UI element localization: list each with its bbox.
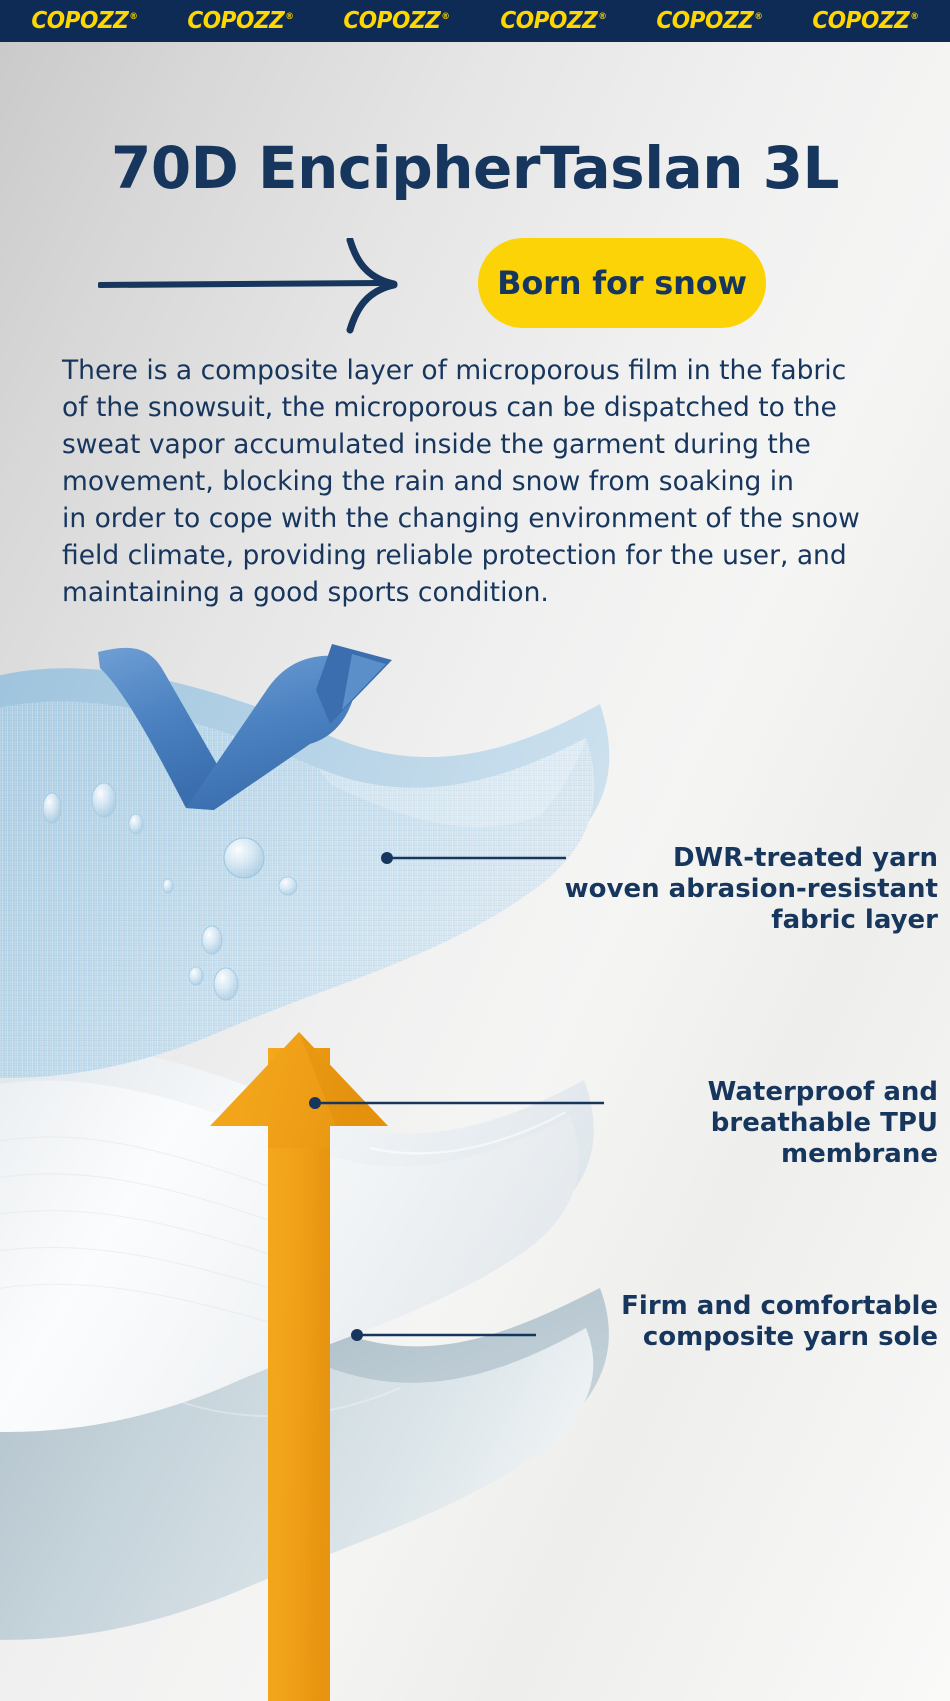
brand-logo: COPOZZ® <box>657 8 763 34</box>
description-line: of the snowsuit, the microporous can be … <box>62 389 862 426</box>
tagline-text: Born for snow <box>497 264 747 302</box>
description-line: sweat vapor accumulated inside the garme… <box>62 426 862 463</box>
brand-logo: COPOZZ® <box>813 8 919 34</box>
description-line: There is a composite layer of microporou… <box>62 352 862 389</box>
brand-logo: COPOZZ® <box>31 8 137 34</box>
description-line: field climate, providing reliable protec… <box>62 537 862 574</box>
callout-composite-sole: Firm and comfortable composite yarn sole <box>538 1291 938 1353</box>
callout-line: breathable TPU <box>558 1108 938 1139</box>
callout-line: fabric layer <box>518 905 938 936</box>
callout-tpu-membrane: Waterproof and breathable TPU membrane <box>558 1077 938 1170</box>
callout-outer-fabric: DWR-treated yarn woven abrasion-resistan… <box>518 843 938 936</box>
description-line: in order to cope with the changing envir… <box>62 500 862 537</box>
long-right-arrow-icon <box>98 238 428 334</box>
brand-logo: COPOZZ® <box>344 8 450 34</box>
tagline-badge: Born for snow <box>478 238 766 328</box>
brand-banner: COPOZZ® COPOZZ® COPOZZ® COPOZZ® COPOZZ® … <box>0 0 950 42</box>
callout-line: Waterproof and <box>558 1077 938 1108</box>
callout-line: composite yarn sole <box>538 1322 938 1353</box>
description-paragraph: There is a composite layer of microporou… <box>62 352 862 611</box>
description-line: movement, blocking the rain and snow fro… <box>62 463 862 500</box>
callout-line: Firm and comfortable <box>538 1291 938 1322</box>
page-title: 70D EncipherTaslan 3L <box>0 134 950 202</box>
callout-line: membrane <box>558 1139 938 1170</box>
description-line: maintaining a good sports condition. <box>62 574 862 611</box>
leader-line-composite-sole <box>350 1325 540 1345</box>
callout-line: DWR-treated yarn <box>518 843 938 874</box>
brand-logo: COPOZZ® <box>188 8 294 34</box>
callout-line: woven abrasion-resistant <box>518 874 938 905</box>
brand-logo: COPOZZ® <box>500 8 606 34</box>
product-infographic: COPOZZ® COPOZZ® COPOZZ® COPOZZ® COPOZZ® … <box>0 0 950 1701</box>
